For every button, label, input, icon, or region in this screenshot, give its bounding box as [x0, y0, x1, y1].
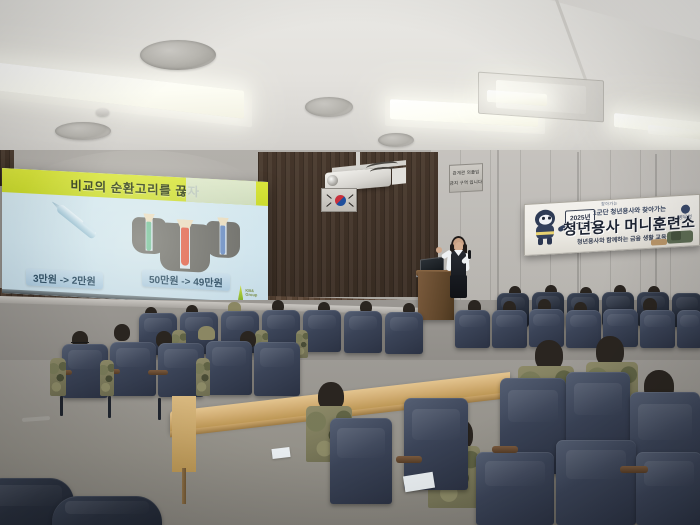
microphone-icon — [468, 250, 471, 259]
banner-org-logo: 병무청 — [678, 204, 692, 221]
auditorium-photo: 관계관 외출입 금지 구역 입니다 비교의 순환고리를 끊자 — [0, 0, 700, 525]
ceiling-speaker-3 — [305, 97, 353, 117]
seat-armrest — [620, 466, 648, 473]
projector-lens-icon — [327, 175, 338, 186]
auditorium-seat[interactable] — [206, 341, 252, 395]
soldier-torso — [100, 360, 114, 396]
auditorium-seat[interactable] — [556, 440, 636, 525]
seat-armrest — [396, 456, 422, 463]
mascot-eye-right — [548, 216, 551, 219]
mascot-leg-right — [547, 237, 552, 244]
seat-armrest — [492, 446, 518, 453]
presenter-skirt — [450, 275, 467, 298]
pen-body — [56, 203, 98, 240]
org-logo-icon — [681, 204, 690, 214]
trigram-bar-2 — [326, 202, 331, 207]
wall-sign-line-2: 금지 구역 입니다 — [450, 179, 483, 187]
slide-logo-text: KB& Group — [245, 288, 262, 298]
wall-sign-line-1: 관계관 외출입 — [453, 169, 480, 176]
mascot-icon — [531, 209, 561, 245]
leaf-icon — [238, 285, 243, 300]
auditorium-seat[interactable] — [677, 310, 700, 348]
conference-table-modesty-panel — [172, 396, 196, 472]
presentation-slide: 비교의 순환고리를 끊자 — [2, 168, 268, 307]
necktie-red-icon — [181, 227, 189, 266]
seat-leg — [158, 398, 161, 420]
banner-table-art — [651, 239, 667, 246]
slide-title: 비교의 순환고리를 끊자 — [70, 174, 199, 200]
banner-illustration — [651, 225, 695, 246]
soldier-torso — [196, 358, 210, 396]
auditorium-seat[interactable] — [492, 310, 527, 348]
auditorium-seat[interactable] — [254, 342, 300, 396]
mascot-eye-left — [542, 217, 545, 220]
projection-screen: 비교의 순환고리를 끊자 — [2, 168, 268, 307]
panel-seam-1 — [497, 150, 499, 300]
suit-figures-group — [130, 201, 242, 279]
smoke-detector — [96, 108, 109, 116]
taegeuk-icon — [335, 195, 346, 206]
auditorium-seat[interactable] — [476, 452, 554, 525]
pen-icon — [49, 198, 101, 242]
suit-figure-blue — [206, 211, 240, 259]
suit-figure-red — [160, 212, 210, 277]
banner-org-text: 병무청 — [678, 214, 692, 221]
projector-mount-arm — [392, 167, 406, 184]
auditorium-seat[interactable] — [636, 452, 700, 525]
necktie-green-icon — [146, 222, 151, 251]
slide-header-overlay — [186, 178, 256, 206]
seat-leg — [108, 396, 111, 418]
auditorium-seat[interactable] — [303, 310, 341, 352]
auditorium-seat[interactable] — [330, 418, 392, 504]
necktie-blue-icon — [220, 225, 225, 254]
auditorium-seat[interactable] — [344, 311, 382, 353]
presenter-raised-hand — [436, 247, 442, 253]
ceiling-speaker-2 — [55, 122, 111, 140]
auditorium-seat[interactable] — [455, 310, 490, 348]
cap-icon — [198, 326, 215, 340]
seat-leg — [60, 396, 63, 416]
soldier-torso — [50, 358, 66, 396]
trigram-bar-1 — [326, 194, 331, 199]
mascot-leg-left — [538, 238, 543, 245]
presenter — [444, 238, 476, 298]
ceiling-speaker-4 — [378, 133, 414, 147]
auditorium-seat[interactable] — [640, 310, 675, 348]
trigram-bar-4 — [348, 202, 353, 207]
trigram-bar-3 — [348, 194, 353, 199]
conference-table-leg — [182, 468, 186, 504]
slide-tag-left: 3만원 -> 2만원 — [26, 268, 103, 289]
wall-notice-sign: 관계관 외출입 금지 구역 입니다 — [449, 163, 483, 193]
auditorium-seat[interactable] — [566, 310, 601, 348]
banner-cushion-art — [671, 231, 681, 241]
ceiling-speaker-1 — [140, 40, 216, 70]
head — [114, 324, 130, 341]
auditorium-seat-foreground[interactable] — [52, 496, 162, 525]
seat-armrest — [148, 370, 168, 375]
taegeuk-emblem-plate — [321, 188, 357, 212]
event-banner: 찾아가는 2025년 1군단 청년용사와 찾아가는 청년용사 머니훈련소 청년용… — [524, 194, 700, 256]
projector-mount-pole — [356, 152, 360, 166]
auditorium-seat[interactable] — [385, 312, 423, 354]
